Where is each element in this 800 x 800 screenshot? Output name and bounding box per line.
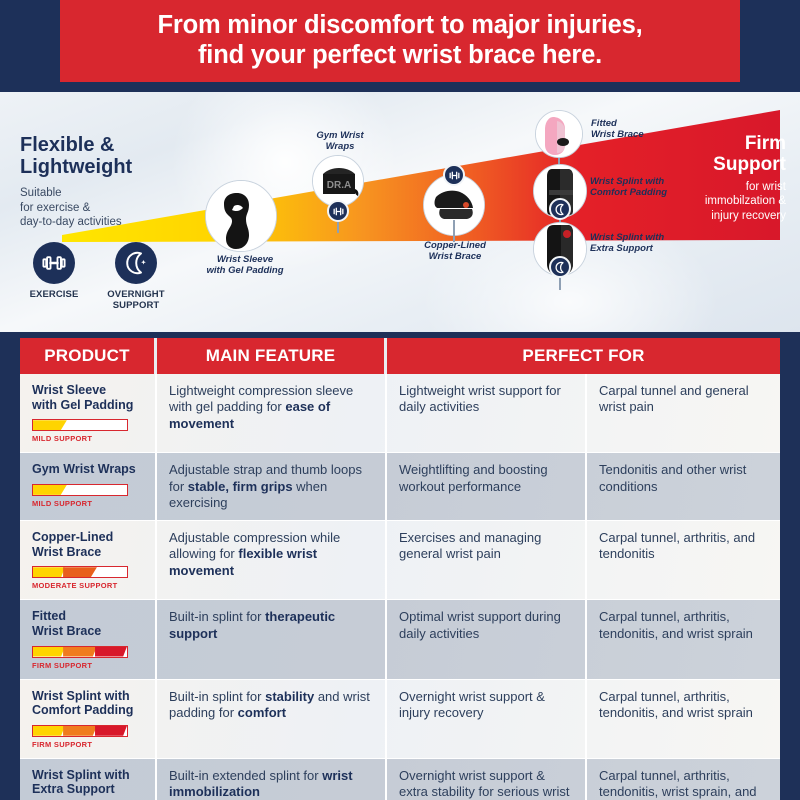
- support-level-label: FIRM SUPPORT: [32, 661, 145, 670]
- support-bar-segment: [33, 567, 65, 577]
- dumbbell-icon: [33, 242, 75, 284]
- flexible-lightweight-zone: Flexible & Lightweight Suitable for exer…: [20, 134, 200, 230]
- legend-label-exercise: EXERCISE: [22, 290, 86, 301]
- legend-label-overnight-support: OVERNIGHT SUPPORT: [104, 290, 168, 311]
- usage-legend: EXERCISE OVERNIGHT SUPPORT: [22, 242, 168, 311]
- support-level-bar: [32, 566, 128, 578]
- dumbbell-icon: [443, 164, 465, 186]
- support-bar-segment: [63, 647, 97, 657]
- table-row: Wrist Sleeve with Gel PaddingMILD SUPPOR…: [20, 374, 780, 453]
- cell-product: Fitted Wrist BraceFIRM SUPPORT: [20, 600, 157, 678]
- main-feature-text: Adjustable strap and thumb loops for sta…: [169, 462, 375, 511]
- cell-product: Copper-Lined Wrist BraceMODERATE SUPPORT: [20, 521, 157, 599]
- cell-perfect-for-primary: Overnight wrist support & extra stabilit…: [387, 759, 587, 800]
- support-bar-segment: [33, 485, 67, 495]
- column-header-perfect-for: PERFECT FOR: [387, 338, 780, 374]
- table-row: Gym Wrist WrapsMILD SUPPORTAdjustable st…: [20, 453, 780, 521]
- legend-item-exercise: EXERCISE: [22, 242, 86, 311]
- table-row: Fitted Wrist BraceFIRM SUPPORTBuilt-in s…: [20, 600, 780, 679]
- dumbbell-icon: [327, 200, 349, 222]
- product-name: Wrist Sleeve with Gel Padding: [32, 383, 145, 412]
- table-body: Wrist Sleeve with Gel PaddingMILD SUPPOR…: [20, 374, 780, 800]
- support-level-bar: [32, 725, 128, 737]
- cell-product: Wrist Sleeve with Gel PaddingMILD SUPPOR…: [20, 374, 157, 452]
- support-bar-segment: [95, 726, 127, 736]
- product-photo-wrist-sleeve: [205, 180, 277, 252]
- cell-perfect-for-primary: Weightlifting and boosting workout perfo…: [387, 453, 587, 520]
- product-name: Wrist Splint with Extra Support: [32, 768, 145, 797]
- perfect-for-conditions-text: Carpal tunnel, arthritis, and tendonitis: [599, 530, 770, 563]
- zone-left-subtitle: Suitable for exercise & day-to-day activ…: [20, 186, 200, 230]
- perfect-for-primary-text: Overnight wrist support & injury recover…: [399, 689, 575, 722]
- bubble-label-wrist-sleeve: Wrist Sleeve with Gel Padding: [190, 254, 300, 277]
- column-header-main-feature: MAIN FEATURE: [157, 338, 387, 374]
- support-level-label: MODERATE SUPPORT: [32, 581, 145, 590]
- cell-main-feature: Built-in splint for stability and wrist …: [157, 680, 387, 758]
- cell-perfect-for-conditions: Tendonitis and other wrist conditions: [587, 453, 780, 520]
- support-level-indicator: FIRM SUPPORT: [32, 725, 145, 749]
- support-bar-segment: [33, 647, 65, 657]
- support-level-indicator: MILD SUPPORT: [32, 484, 145, 508]
- perfect-for-conditions-text: Tendonitis and other wrist conditions: [599, 462, 770, 495]
- cell-perfect-for-conditions: Carpal tunnel, arthritis, tendonitis, an…: [587, 600, 780, 678]
- cell-product: Wrist Splint with Extra SupportFIRM SUPP…: [20, 759, 157, 800]
- product-name: Wrist Splint with Comfort Padding: [32, 689, 145, 718]
- cell-perfect-for-primary: Lightweight wrist support for daily acti…: [387, 374, 587, 452]
- perfect-for-primary-text: Exercises and managing general wrist pai…: [399, 530, 575, 563]
- bubble-stem-splint-extra: [559, 276, 561, 290]
- main-feature-text: Built-in splint for therapeutic support: [169, 609, 375, 642]
- legend-item-overnight-support: OVERNIGHT SUPPORT: [104, 242, 168, 311]
- cell-perfect-for-primary: Exercises and managing general wrist pai…: [387, 521, 587, 599]
- crescent-moon-icon: [549, 198, 571, 220]
- perfect-for-primary-text: Weightlifting and boosting workout perfo…: [399, 462, 575, 495]
- main-feature-text: Built-in extended splint for wrist immob…: [169, 768, 375, 800]
- cell-perfect-for-primary: Optimal wrist support during daily activ…: [387, 600, 587, 678]
- product-name: Gym Wrist Wraps: [32, 462, 145, 477]
- hero-banner: From minor discomfort to major injuries,…: [60, 0, 740, 82]
- cell-perfect-for-conditions: Carpal tunnel, arthritis, tendonitis, an…: [587, 680, 780, 758]
- perfect-for-conditions-text: Carpal tunnel, arthritis, tendonitis, wr…: [599, 768, 770, 800]
- support-level-indicator: FIRM SUPPORT: [32, 646, 145, 670]
- main-feature-text: Adjustable compression while allowing fo…: [169, 530, 375, 579]
- bubble-stem-copper-lined: [453, 220, 455, 242]
- crescent-moon-icon: [549, 256, 571, 278]
- support-spectrum-section: Flexible & Lightweight Suitable for exer…: [0, 92, 800, 332]
- product-name: Copper-Lined Wrist Brace: [32, 530, 145, 559]
- table-header-row: PRODUCT MAIN FEATURE PERFECT FOR: [20, 338, 780, 374]
- cell-product: Gym Wrist WrapsMILD SUPPORT: [20, 453, 157, 520]
- perfect-for-conditions-text: Carpal tunnel, arthritis, tendonitis, an…: [599, 609, 770, 642]
- support-bar-segment: [33, 726, 65, 736]
- cell-main-feature: Lightweight compression sleeve with gel …: [157, 374, 387, 452]
- product-photo-fitted-wrist-brace: [535, 110, 583, 158]
- bubble-label-gym-wrist-wraps: Gym Wrist Wraps: [297, 130, 383, 153]
- support-level-label: FIRM SUPPORT: [32, 740, 145, 749]
- bubble-label-fitted-wrist-brace: Fitted Wrist Brace: [591, 118, 701, 141]
- bubble-label-splint-extra: Wrist Splint with Extra Support: [590, 232, 710, 255]
- perfect-for-primary-text: Overnight wrist support & extra stabilit…: [399, 768, 575, 800]
- support-bar-segment: [63, 567, 97, 577]
- perfect-for-primary-text: Optimal wrist support during daily activ…: [399, 609, 575, 642]
- perfect-for-conditions-text: Carpal tunnel, arthritis, tendonitis, an…: [599, 689, 770, 722]
- cell-main-feature: Built-in splint for therapeutic support: [157, 600, 387, 678]
- bubble-label-splint-comfort: Wrist Splint with Comfort Padding: [590, 176, 710, 199]
- main-feature-text: Lightweight compression sleeve with gel …: [169, 383, 375, 432]
- support-level-indicator: MILD SUPPORT: [32, 419, 145, 443]
- support-bar-segment: [63, 726, 97, 736]
- cell-main-feature: Adjustable compression while allowing fo…: [157, 521, 387, 599]
- cell-main-feature: Adjustable strap and thumb loops for sta…: [157, 453, 387, 520]
- support-level-bar: [32, 484, 128, 496]
- page-title: From minor discomfort to major injuries,…: [157, 11, 642, 70]
- svg-text:DR.A: DR.A: [327, 180, 351, 191]
- crescent-moon-icon: [115, 242, 157, 284]
- cell-product: Wrist Splint with Comfort PaddingFIRM SU…: [20, 680, 157, 758]
- support-level-label: MILD SUPPORT: [32, 499, 145, 508]
- table-row: Wrist Splint with Comfort PaddingFIRM SU…: [20, 680, 780, 759]
- infographic-page: From minor discomfort to major injuries,…: [0, 0, 800, 800]
- cell-main-feature: Built-in extended splint for wrist immob…: [157, 759, 387, 800]
- cell-perfect-for-conditions: Carpal tunnel, arthritis, and tendonitis: [587, 521, 780, 599]
- support-level-bar: [32, 419, 128, 431]
- zone-left-title: Flexible & Lightweight: [20, 134, 200, 179]
- support-level-label: MILD SUPPORT: [32, 434, 145, 443]
- table-row: Wrist Splint with Extra SupportFIRM SUPP…: [20, 759, 780, 800]
- table-row: Copper-Lined Wrist BraceMODERATE SUPPORT…: [20, 521, 780, 600]
- column-header-product: PRODUCT: [20, 338, 157, 374]
- cell-perfect-for-conditions: Carpal tunnel, arthritis, tendonitis, wr…: [587, 759, 780, 800]
- cell-perfect-for-primary: Overnight wrist support & injury recover…: [387, 680, 587, 758]
- support-level-indicator: MODERATE SUPPORT: [32, 566, 145, 590]
- perfect-for-conditions-text: Carpal tunnel and general wrist pain: [599, 383, 770, 416]
- main-feature-text: Built-in splint for stability and wrist …: [169, 689, 375, 722]
- support-level-bar: [32, 646, 128, 658]
- bubble-label-copper-lined: Copper-Lined Wrist Brace: [400, 240, 510, 263]
- support-bar-segment: [33, 420, 67, 430]
- support-bar-segment: [95, 647, 127, 657]
- perfect-for-primary-text: Lightweight wrist support for daily acti…: [399, 383, 575, 416]
- hero-section: From minor discomfort to major injuries,…: [0, 0, 800, 92]
- product-name: Fitted Wrist Brace: [32, 609, 145, 638]
- cell-perfect-for-conditions: Carpal tunnel and general wrist pain: [587, 374, 780, 452]
- product-comparison-table: PRODUCT MAIN FEATURE PERFECT FOR Wrist S…: [20, 338, 780, 782]
